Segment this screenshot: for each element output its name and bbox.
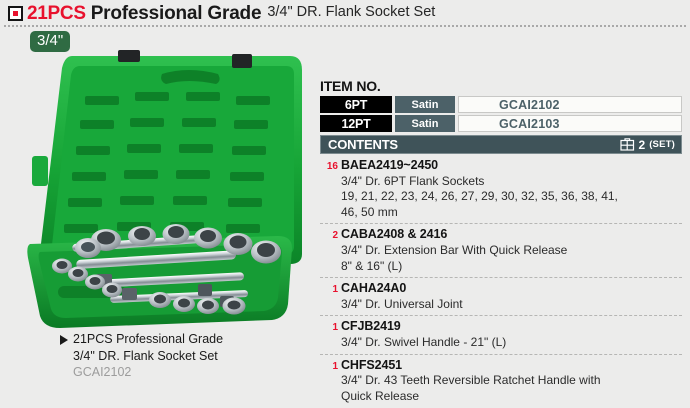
product-caption: 21PCS Professional Grade 3/4" DR. Flank … [60, 331, 310, 381]
caption-line-1: 21PCS Professional Grade [73, 331, 223, 348]
item-desc-line: 3/4" Dr. 43 Teeth Reversible Ratchet Han… [341, 373, 682, 389]
item-row: 12PT Satin GCAI2103 [320, 115, 682, 132]
spec-panel: ITEM NO. 6PT Satin GCAI2102 12PT Satin G… [320, 78, 682, 408]
tool-case-photo [10, 48, 310, 333]
item-quantity: 1 [320, 281, 341, 295]
ratchet-handle [75, 238, 101, 258]
list-item: 16 BAEA2419~2450 3/4" Dr. 6PT Flank Sock… [320, 158, 682, 223]
item-type-cell: 6PT [320, 96, 392, 113]
item-code-cell: GCAI2103 [458, 115, 682, 132]
item-desc-line: 3/4" Dr. Swivel Handle - 21" (L) [341, 335, 682, 351]
item-desc-line: 3/4" Dr. Universal Joint [341, 297, 682, 313]
red-square-icon [8, 6, 23, 21]
contents-header: CONTENTS 2 (SET) [320, 135, 682, 154]
item-quantity: 16 [320, 158, 341, 172]
triangle-right-icon [60, 335, 68, 345]
header-subtitle: 3/4" DR. Flank Socket Set [267, 5, 435, 21]
item-desc-line: Quick Release [341, 389, 682, 405]
product-spec-sheet: 21PCS Professional Grade 3/4" DR. Flank … [0, 0, 690, 408]
list-item: 1 CHFS2451 3/4" Dr. 43 Teeth Reversible … [320, 354, 682, 408]
item-code: CFJB2419 [341, 319, 682, 335]
item-code: BAEA2419~2450 [341, 158, 682, 174]
item-code-cell: GCAI2102 [458, 96, 682, 113]
item-code: CABA2408 & 2416 [341, 227, 682, 243]
header-pcs: 21PCS [27, 4, 86, 23]
item-type-cell: 12PT [320, 115, 392, 132]
blow-case-icon [620, 138, 635, 151]
item-row: 6PT Satin GCAI2102 [320, 96, 682, 113]
list-item: 1 CFJB2419 3/4" Dr. Swivel Handle - 21" … [320, 315, 682, 353]
item-desc-line: 46, 50 mm [341, 205, 682, 221]
contents-qty-group: 2 (SET) [620, 138, 676, 152]
item-quantity: 1 [320, 319, 341, 333]
caption-item-code: GCAI2102 [73, 364, 310, 381]
item-desc-line: 19, 21, 22, 23, 24, 26, 27, 29, 30, 32, … [341, 189, 682, 205]
item-code: CAHA24A0 [341, 281, 682, 297]
list-item: 1 CAHA24A0 3/4" Dr. Universal Joint [320, 277, 682, 315]
item-desc-line: 8" & 16" (L) [341, 259, 682, 275]
item-desc-line: 3/4" Dr. 6PT Flank Sockets [341, 174, 682, 190]
header-grade: Professional Grade [91, 4, 262, 23]
item-desc-line: 3/4" Dr. Extension Bar With Quick Releas… [341, 243, 682, 259]
contents-title: CONTENTS [328, 137, 398, 152]
contents-unit: (SET) [649, 139, 675, 150]
item-body: CAHA24A0 3/4" Dr. Universal Joint [341, 281, 682, 312]
item-no-label: ITEM NO. [320, 78, 682, 94]
item-quantity: 1 [320, 358, 341, 372]
header-divider [4, 25, 686, 27]
item-body: CABA2408 & 2416 3/4" Dr. Extension Bar W… [341, 227, 682, 274]
page-header: 21PCS Professional Grade 3/4" DR. Flank … [0, 0, 690, 26]
item-code: CHFS2451 [341, 358, 682, 374]
item-body: BAEA2419~2450 3/4" Dr. 6PT Flank Sockets… [341, 158, 682, 220]
item-quantity: 2 [320, 227, 341, 241]
item-finish-cell: Satin [395, 96, 455, 113]
item-body: CHFS2451 3/4" Dr. 43 Teeth Reversible Ra… [341, 358, 682, 405]
caption-line-2: 3/4" DR. Flank Socket Set [73, 348, 310, 365]
item-body: CFJB2419 3/4" Dr. Swivel Handle - 21" (L… [341, 319, 682, 350]
contents-qty: 2 [639, 138, 646, 152]
item-finish-cell: Satin [395, 115, 455, 132]
contents-list: 16 BAEA2419~2450 3/4" Dr. 6PT Flank Sock… [320, 158, 682, 407]
list-item: 2 CABA2408 & 2416 3/4" Dr. Extension Bar… [320, 223, 682, 277]
